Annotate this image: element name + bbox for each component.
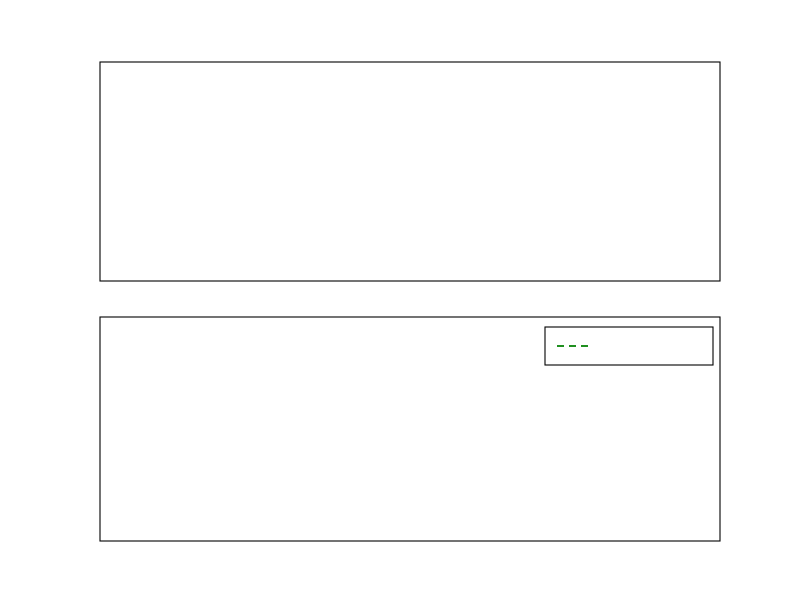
figure-background bbox=[0, 0, 800, 600]
figure-canvas bbox=[0, 0, 800, 600]
legend[interactable] bbox=[545, 327, 713, 365]
matplotlib-figure bbox=[0, 0, 800, 600]
